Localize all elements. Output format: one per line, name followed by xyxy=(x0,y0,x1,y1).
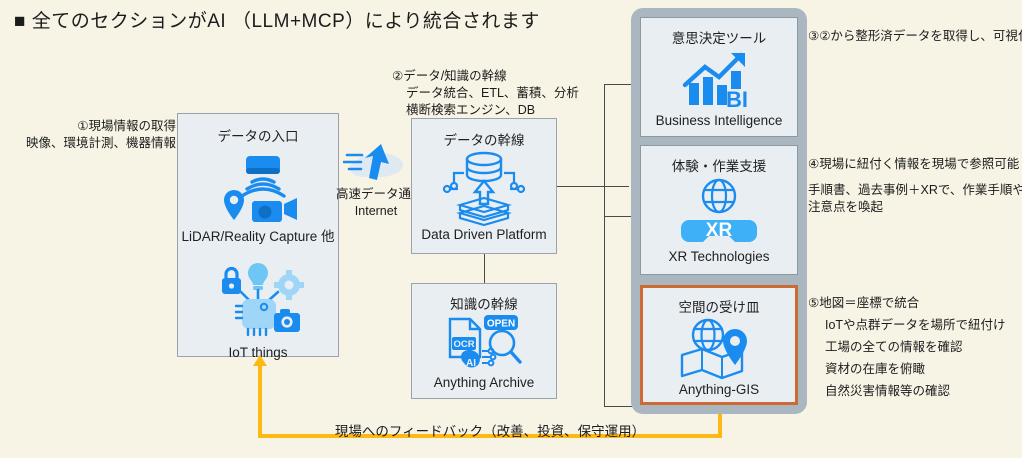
connector-bracket-vertical xyxy=(604,84,605,406)
data-driven-platform-card[interactable]: データの幹線 xyxy=(411,118,557,254)
note-1-line-1: ①現場情報の取得 xyxy=(8,118,176,135)
svg-text:XR: XR xyxy=(706,220,733,241)
lidar-camera-label: LiDAR/Reality Capture 他 xyxy=(178,225,338,245)
svg-text:OPEN: OPEN xyxy=(487,319,515,330)
svg-text:AI: AI xyxy=(466,358,476,369)
archive-label: Anything Archive xyxy=(412,375,556,390)
internet-label-line-2: Internet xyxy=(336,203,416,220)
note-5-line-5: 自然災害情報等の確認 xyxy=(808,380,1006,402)
feedback-line-left-vertical xyxy=(258,366,262,436)
note-3-line-1: ③②から整形済データを取得し、可視化 xyxy=(808,28,1022,45)
bi-chart-icon: BI xyxy=(641,47,797,113)
lidar-camera-icon xyxy=(178,153,338,225)
connector-to-gis xyxy=(604,406,632,407)
connector-archive-platform xyxy=(484,254,485,283)
note-5-line-3: 工場の全ての情報を確認 xyxy=(808,336,1006,358)
gis-label: Anything-GIS xyxy=(643,382,795,397)
note-1: ①現場情報の取得 映像、環境計測、機器情報 xyxy=(8,118,176,152)
note-4-line-1: ④現場に紐付く情報を現場で参照可能 xyxy=(808,156,1022,173)
feedback-label: 現場へのフィードバック（改善、投資、保守運用） xyxy=(330,420,650,440)
internet-connector xyxy=(341,144,411,184)
note-4: ④現場に紐付く情報を現場で参照可能 手順書、過去事例＋XRで、作業手順や 注意点… xyxy=(808,156,1022,216)
internet-label-line-1: 高速データ通信 xyxy=(336,186,416,203)
gis-map-icon xyxy=(643,316,795,382)
gis-title: 空間の受け皿 xyxy=(643,296,795,316)
platform-title: データの幹線 xyxy=(412,129,556,149)
xr-title: 体験・作業支援 xyxy=(641,155,797,175)
note-5-line-4: 資材の在庫を俯瞰 xyxy=(808,358,1006,380)
iot-chip-icon xyxy=(178,259,338,343)
anything-archive-card[interactable]: 知識の幹線 OCR OPEN AI Anything Archive xyxy=(411,283,557,399)
xr-headset-icon: XR xyxy=(641,175,797,249)
cloud-arrow-icon xyxy=(341,144,411,184)
note-3: ③②から整形済データを取得し、可視化 xyxy=(808,28,1022,45)
note-4-line-3: 注意点を喚起 xyxy=(808,199,1022,216)
ocr-open-search-icon: OCR OPEN AI xyxy=(412,313,556,375)
note-4-line-2: 手順書、過去事例＋XRで、作業手順や xyxy=(808,182,1022,199)
svg-text:OCR: OCR xyxy=(453,339,474,350)
platform-label: Data Driven Platform xyxy=(412,227,556,242)
feedback-line-right-vertical xyxy=(718,414,722,436)
data-entry-panel[interactable]: データの入口 LiDAR/Reality Capture 他 xyxy=(177,113,339,357)
archive-title: 知識の幹線 xyxy=(412,293,556,313)
bi-label: Business Intelligence xyxy=(641,113,797,128)
note-5-line-1: ⑤地図＝座標で統合 xyxy=(808,292,1006,314)
xr-technologies-card[interactable]: 体験・作業支援 XR XR Technologies xyxy=(640,145,798,275)
connector-platform-out xyxy=(557,186,629,187)
note-5-line-2: IoTや点群データを場所で紐付け xyxy=(808,314,1006,336)
connector-to-xr xyxy=(604,216,632,217)
svg-text:BI: BI xyxy=(726,87,748,111)
xr-label: XR Technologies xyxy=(641,249,797,264)
data-stack-icon xyxy=(412,149,556,227)
note-2: ②データ/知識の幹線 データ統合、ETL、蓄積、分析 横断検索エンジン、DB xyxy=(392,68,579,119)
note-2-line-3: 横断検索エンジン、DB xyxy=(392,102,579,119)
connector-to-bi xyxy=(604,84,632,85)
note-5: ⑤地図＝座標で統合 IoTや点群データを場所で紐付け 工場の全ての情報を確認 資… xyxy=(808,292,1006,402)
note-2-line-1: ②データ/知識の幹線 xyxy=(392,68,579,85)
anything-gis-card[interactable]: 空間の受け皿 Anything-GIS xyxy=(640,285,798,405)
business-intelligence-card[interactable]: 意思決定ツール BI Business Intelligence xyxy=(640,17,798,137)
note-1-line-2: 映像、環境計測、機器情報 xyxy=(8,135,176,152)
data-entry-title: データの入口 xyxy=(178,125,338,145)
page-title: ■ 全てのセクションがAI （LLM+MCP）により統合されます xyxy=(14,6,540,33)
internet-label: 高速データ通信 Internet xyxy=(336,186,416,220)
feedback-arrowhead-icon xyxy=(253,355,267,366)
bi-title: 意思決定ツール xyxy=(641,27,797,47)
note-2-line-2: データ統合、ETL、蓄積、分析 xyxy=(392,85,579,102)
